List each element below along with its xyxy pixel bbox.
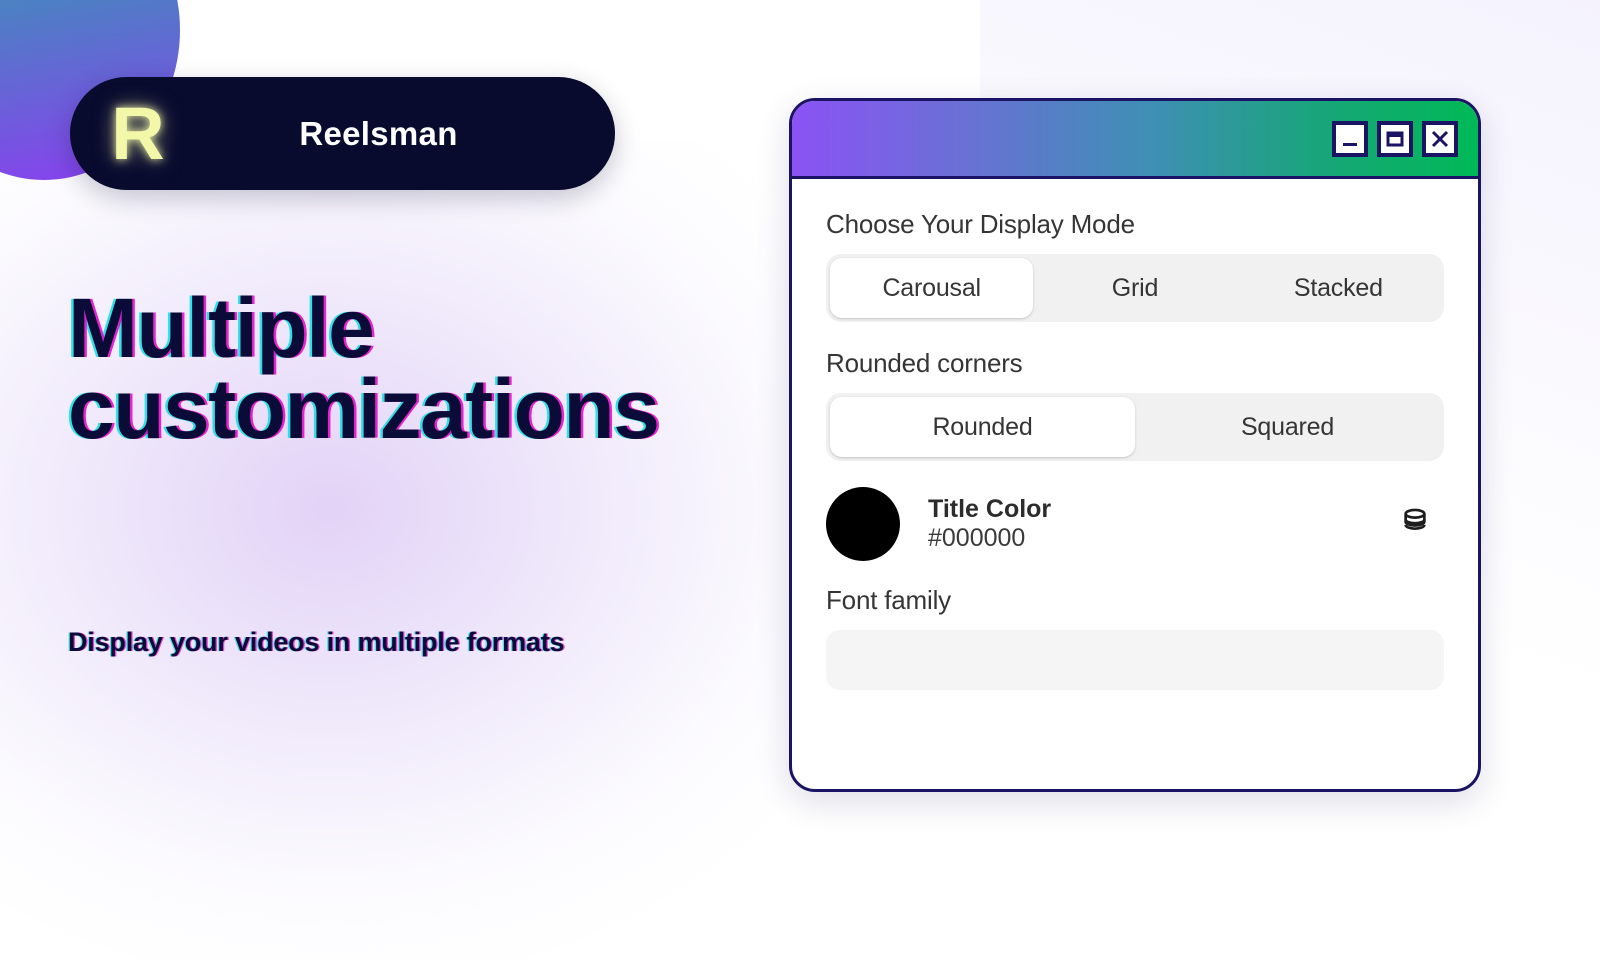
headline-line-1: Multiple [68, 281, 373, 375]
headline-line-2: customizations [68, 362, 658, 456]
window-content: Choose Your Display Mode Carousal Grid S… [792, 179, 1478, 690]
page-title: Multiple customizations [68, 288, 768, 451]
rounded-corners-segmented-control[interactable]: Rounded Squared [826, 393, 1444, 461]
title-color-swatch[interactable] [826, 487, 900, 561]
title-color-texts: Title Color #000000 [928, 495, 1398, 554]
segment-grid[interactable]: Grid [1033, 258, 1236, 318]
reelsman-logo-icon: R [70, 77, 190, 190]
segment-rounded[interactable]: Rounded [830, 397, 1135, 457]
database-icon[interactable] [1398, 505, 1432, 544]
maximize-button[interactable] [1377, 121, 1413, 157]
minimize-button[interactable] [1332, 121, 1368, 157]
segment-squared[interactable]: Squared [1135, 397, 1440, 457]
brand-name: Reelsman [190, 115, 615, 153]
brand-badge: R Reelsman [70, 77, 615, 190]
segment-stacked[interactable]: Stacked [1237, 258, 1440, 318]
hero-section: R Reelsman Multiple customizations Displ… [0, 0, 790, 900]
window-controls [1332, 121, 1458, 157]
title-color-label: Title Color [928, 495, 1398, 525]
maximize-icon [1385, 129, 1405, 149]
window-titlebar [792, 101, 1478, 179]
title-color-row[interactable]: Title Color #000000 [826, 487, 1444, 561]
display-mode-segmented-control[interactable]: Carousal Grid Stacked [826, 254, 1444, 322]
segment-carousal[interactable]: Carousal [830, 258, 1033, 318]
minimize-icon [1340, 129, 1360, 149]
app-window: Choose Your Display Mode Carousal Grid S… [789, 98, 1481, 792]
close-icon [1430, 129, 1450, 149]
page-subtitle: Display your videos in multiple formats [68, 626, 628, 659]
title-color-value: #000000 [928, 524, 1398, 554]
close-button[interactable] [1422, 121, 1458, 157]
font-family-label: Font family [826, 585, 1444, 616]
display-mode-label: Choose Your Display Mode [826, 209, 1444, 240]
font-family-select[interactable] [826, 630, 1444, 690]
rounded-corners-label: Rounded corners [826, 348, 1444, 379]
